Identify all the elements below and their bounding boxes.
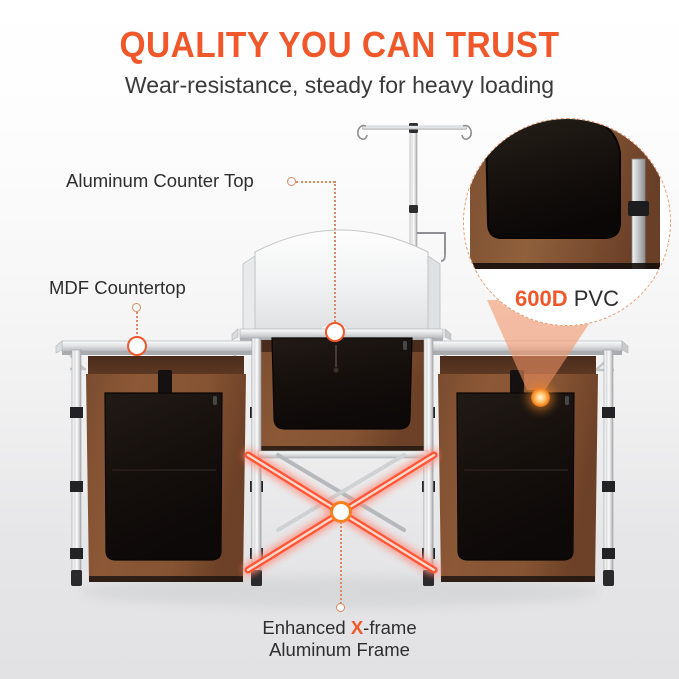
cabinet-pocket-left bbox=[105, 393, 222, 560]
windscreen-wing-left bbox=[243, 256, 255, 330]
callout-x-frame-line1: Enhanced X-frame bbox=[0, 617, 679, 639]
x-frame-marker-dot bbox=[336, 603, 345, 612]
windscreen-wing-right bbox=[428, 256, 440, 330]
aluminum-counter-top-leader-h bbox=[296, 181, 335, 183]
magnifier-label: 600D PVC bbox=[463, 286, 671, 312]
callout-x-frame: Enhanced X-frame Aluminum Frame bbox=[0, 617, 679, 661]
windscreen bbox=[243, 230, 440, 332]
x-frame-leader-v bbox=[340, 522, 342, 604]
callout-x-frame-highlight: X bbox=[351, 617, 363, 638]
aluminum-counter-top-anchor bbox=[325, 322, 345, 342]
left-storage-cabinet bbox=[70, 350, 263, 586]
mdf-countertop-anchor bbox=[127, 336, 147, 356]
callout-mdf-countertop: MDF Countertop bbox=[49, 277, 186, 299]
magnifier-callout: 600D PVC bbox=[463, 118, 671, 326]
callout-x-frame-prefix: Enhanced bbox=[262, 617, 350, 638]
center-storage-cabinet bbox=[258, 338, 426, 452]
mdf-countertop-leader-v bbox=[136, 312, 138, 338]
aluminum-counter-top-leader-v bbox=[334, 181, 336, 326]
magnifier-focal-point bbox=[531, 388, 550, 407]
cabinet-pocket-center bbox=[272, 338, 412, 429]
cabinet-pocket-right bbox=[457, 393, 574, 560]
callout-x-frame-line2: Aluminum Frame bbox=[0, 639, 679, 661]
product-infographic: QUALITY YOU CAN TRUST Wear-resistance, s… bbox=[0, 0, 679, 679]
right-storage-cabinet bbox=[422, 350, 615, 586]
magnifier-material: PVC bbox=[568, 286, 619, 311]
aluminum-counter-top-marker-dot bbox=[287, 177, 296, 186]
callout-aluminum-counter-top: Aluminum Counter Top bbox=[66, 170, 254, 192]
windscreen-center-panel bbox=[255, 230, 428, 332]
magnifier-denier: 600D bbox=[515, 286, 568, 311]
mdf-countertop-marker-dot bbox=[132, 303, 141, 312]
callout-x-frame-suffix: -frame bbox=[363, 617, 416, 638]
